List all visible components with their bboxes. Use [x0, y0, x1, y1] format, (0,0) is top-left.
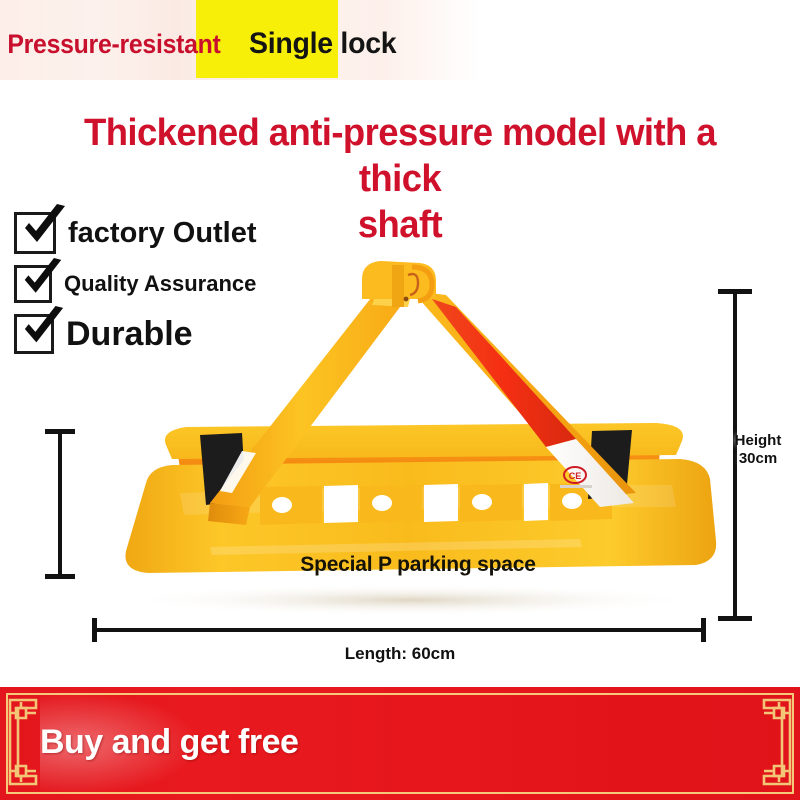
width-dimension-cap-top — [45, 429, 75, 434]
product-image-parking-lock: CE Special P parking space — [60, 255, 740, 615]
lock-pin-icon — [404, 297, 409, 302]
ornament-corner-right-icon — [736, 692, 796, 792]
gift-banner-title: Buy and get free — [40, 723, 298, 762]
height-label-line-2: 30cm — [726, 450, 790, 468]
height-label-line-1: Height — [726, 432, 790, 450]
bolt-hole-icon — [272, 497, 292, 513]
length-dimension-line — [93, 628, 705, 632]
top-banner-text-line: Pressure-resistant Single lock — [0, 22, 800, 66]
length-dimension-label: Length: 60cm — [300, 644, 500, 664]
width-dimension-cap-bottom — [45, 574, 75, 579]
check-mark-icon — [19, 204, 71, 250]
checkbox-checked-icon — [14, 265, 52, 303]
height-dimension-label: Height 30cm — [726, 432, 790, 468]
height-dimension-cap-top — [718, 289, 752, 294]
list-item-label: factory Outlet — [68, 217, 257, 250]
gift-banner: reflective *3 — [0, 687, 800, 800]
svg-text:CE: CE — [569, 471, 582, 481]
height-dimension-cap-bottom — [718, 616, 752, 621]
length-dimension-cap-left — [92, 618, 97, 642]
length-dimension-cap-right — [701, 618, 706, 642]
top-banner-red-text: Pressure-resistant — [0, 29, 221, 60]
checkbox-checked-icon — [14, 314, 54, 354]
top-banner-highlight-text: Single lock — [249, 27, 396, 61]
top-banner: Pressure-resistant Single lock — [0, 0, 800, 80]
product-shadow — [120, 584, 700, 615]
width-dimension-line — [58, 430, 62, 578]
bolt-hole-icon — [372, 495, 392, 511]
base-engraved-text: Special P parking space — [248, 553, 588, 577]
headline-line-1: Thickened anti-pressure model with a thi… — [39, 110, 761, 202]
checkbox-checked-icon — [14, 212, 56, 254]
bolt-hole-icon — [562, 493, 582, 509]
hinge-plate — [392, 265, 404, 307]
promo-image: Pressure-resistant Single lock Thickened… — [0, 0, 800, 800]
bolt-hole-icon — [472, 494, 492, 510]
list-item: factory Outlet — [14, 212, 344, 254]
